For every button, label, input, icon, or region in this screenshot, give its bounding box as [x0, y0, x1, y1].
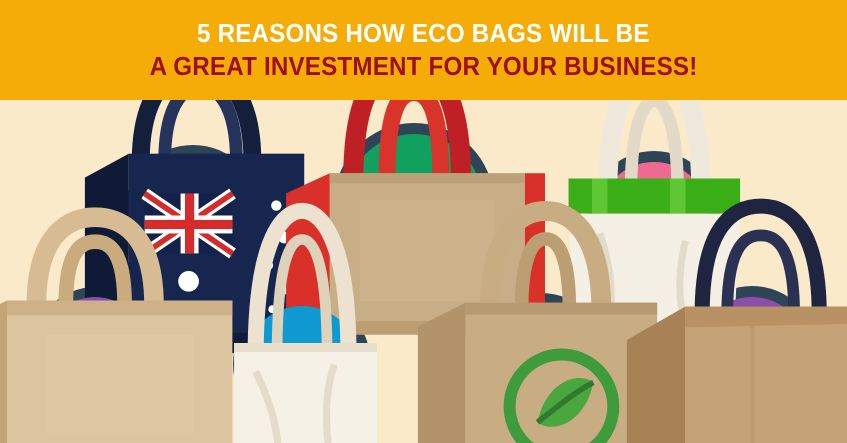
diagram-node-kraft-paper-bag[interactable] — [697, 297, 807, 407]
diagram-node-jute-shopper-bag[interactable] — [43, 297, 147, 401]
diagram-node-canvas-tote-bag[interactable] — [244, 306, 360, 422]
bag-image-canvas-tote-bag — [244, 306, 360, 422]
headline-line-1: 5 REASONS HOW ECO BAGS WILL BE — [197, 20, 650, 47]
eco-bags-poster: 5 REASONS HOW ECO BAGS WILL BE A GREAT I… — [0, 0, 847, 443]
diagram-node-eco-logo-jute-bag[interactable] — [483, 304, 599, 420]
headline-line-2: A GREAT INVESTMENT FOR YOUR BUSINESS! — [150, 53, 698, 80]
poster-header-band: 5 REASONS HOW ECO BAGS WILL BE A GREAT I… — [0, 0, 847, 100]
bag-image-eco-logo-jute-bag — [483, 304, 599, 420]
bag-image-kraft-paper-bag — [697, 297, 807, 407]
node-diagram — [0, 100, 847, 443]
bag-image-jute-shopper-bag — [43, 297, 147, 401]
